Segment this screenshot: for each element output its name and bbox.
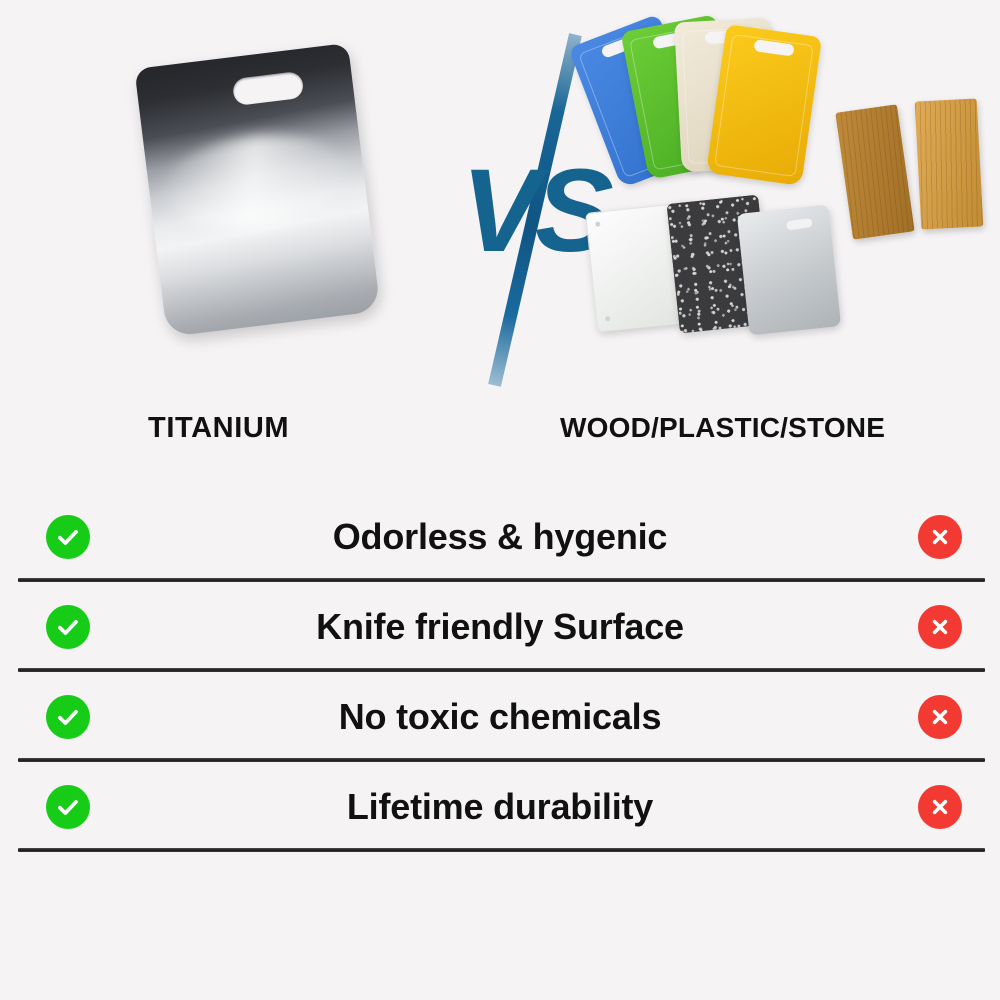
wood-grain-texture	[915, 98, 984, 229]
row-divider	[18, 848, 985, 852]
board-inner-groove	[714, 34, 814, 177]
feature-label: Odorless & hygenic	[0, 516, 1000, 558]
table-row: Lifetime durability	[0, 762, 1000, 852]
cross-circle-icon	[918, 605, 962, 649]
feature-label: No toxic chemicals	[0, 696, 1000, 738]
yellow-plastic-board	[706, 24, 822, 186]
table-row: Odorless & hygenic	[0, 492, 1000, 582]
comparison-table: Odorless & hygenic Knife friendly Surfac…	[0, 492, 1000, 852]
plastic-boards-group	[592, 8, 832, 188]
row-divider	[18, 578, 985, 582]
infographic-canvas: VS	[0, 0, 1000, 1000]
cross-circle-icon	[918, 785, 962, 829]
cross-circle-icon	[918, 515, 962, 559]
others-category-label: WOOD/PLASTIC/STONE	[560, 412, 885, 444]
wood-grain-texture	[835, 104, 914, 239]
hero-product-comparison: VS	[0, 0, 1000, 470]
row-divider	[18, 758, 985, 762]
dark-wood-board	[835, 104, 914, 239]
row-divider	[18, 668, 985, 672]
titanium-category-label: TITANIUM	[148, 412, 289, 445]
feature-label: Knife friendly Surface	[0, 606, 1000, 648]
light-wood-board	[915, 98, 984, 229]
gray-stone-board	[737, 205, 841, 336]
feature-label: Lifetime durability	[0, 786, 1000, 828]
handle-slot-icon	[786, 218, 813, 231]
stone-boards-group	[585, 195, 835, 340]
table-row: Knife friendly Surface	[0, 582, 1000, 672]
titanium-board-image	[134, 43, 380, 337]
corner-stud-icon	[595, 221, 600, 226]
watermark	[250, 880, 750, 970]
corner-stud-icon	[605, 316, 610, 321]
wood-boards-group	[840, 100, 1000, 250]
table-row: No toxic chemicals	[0, 672, 1000, 762]
cross-circle-icon	[918, 695, 962, 739]
